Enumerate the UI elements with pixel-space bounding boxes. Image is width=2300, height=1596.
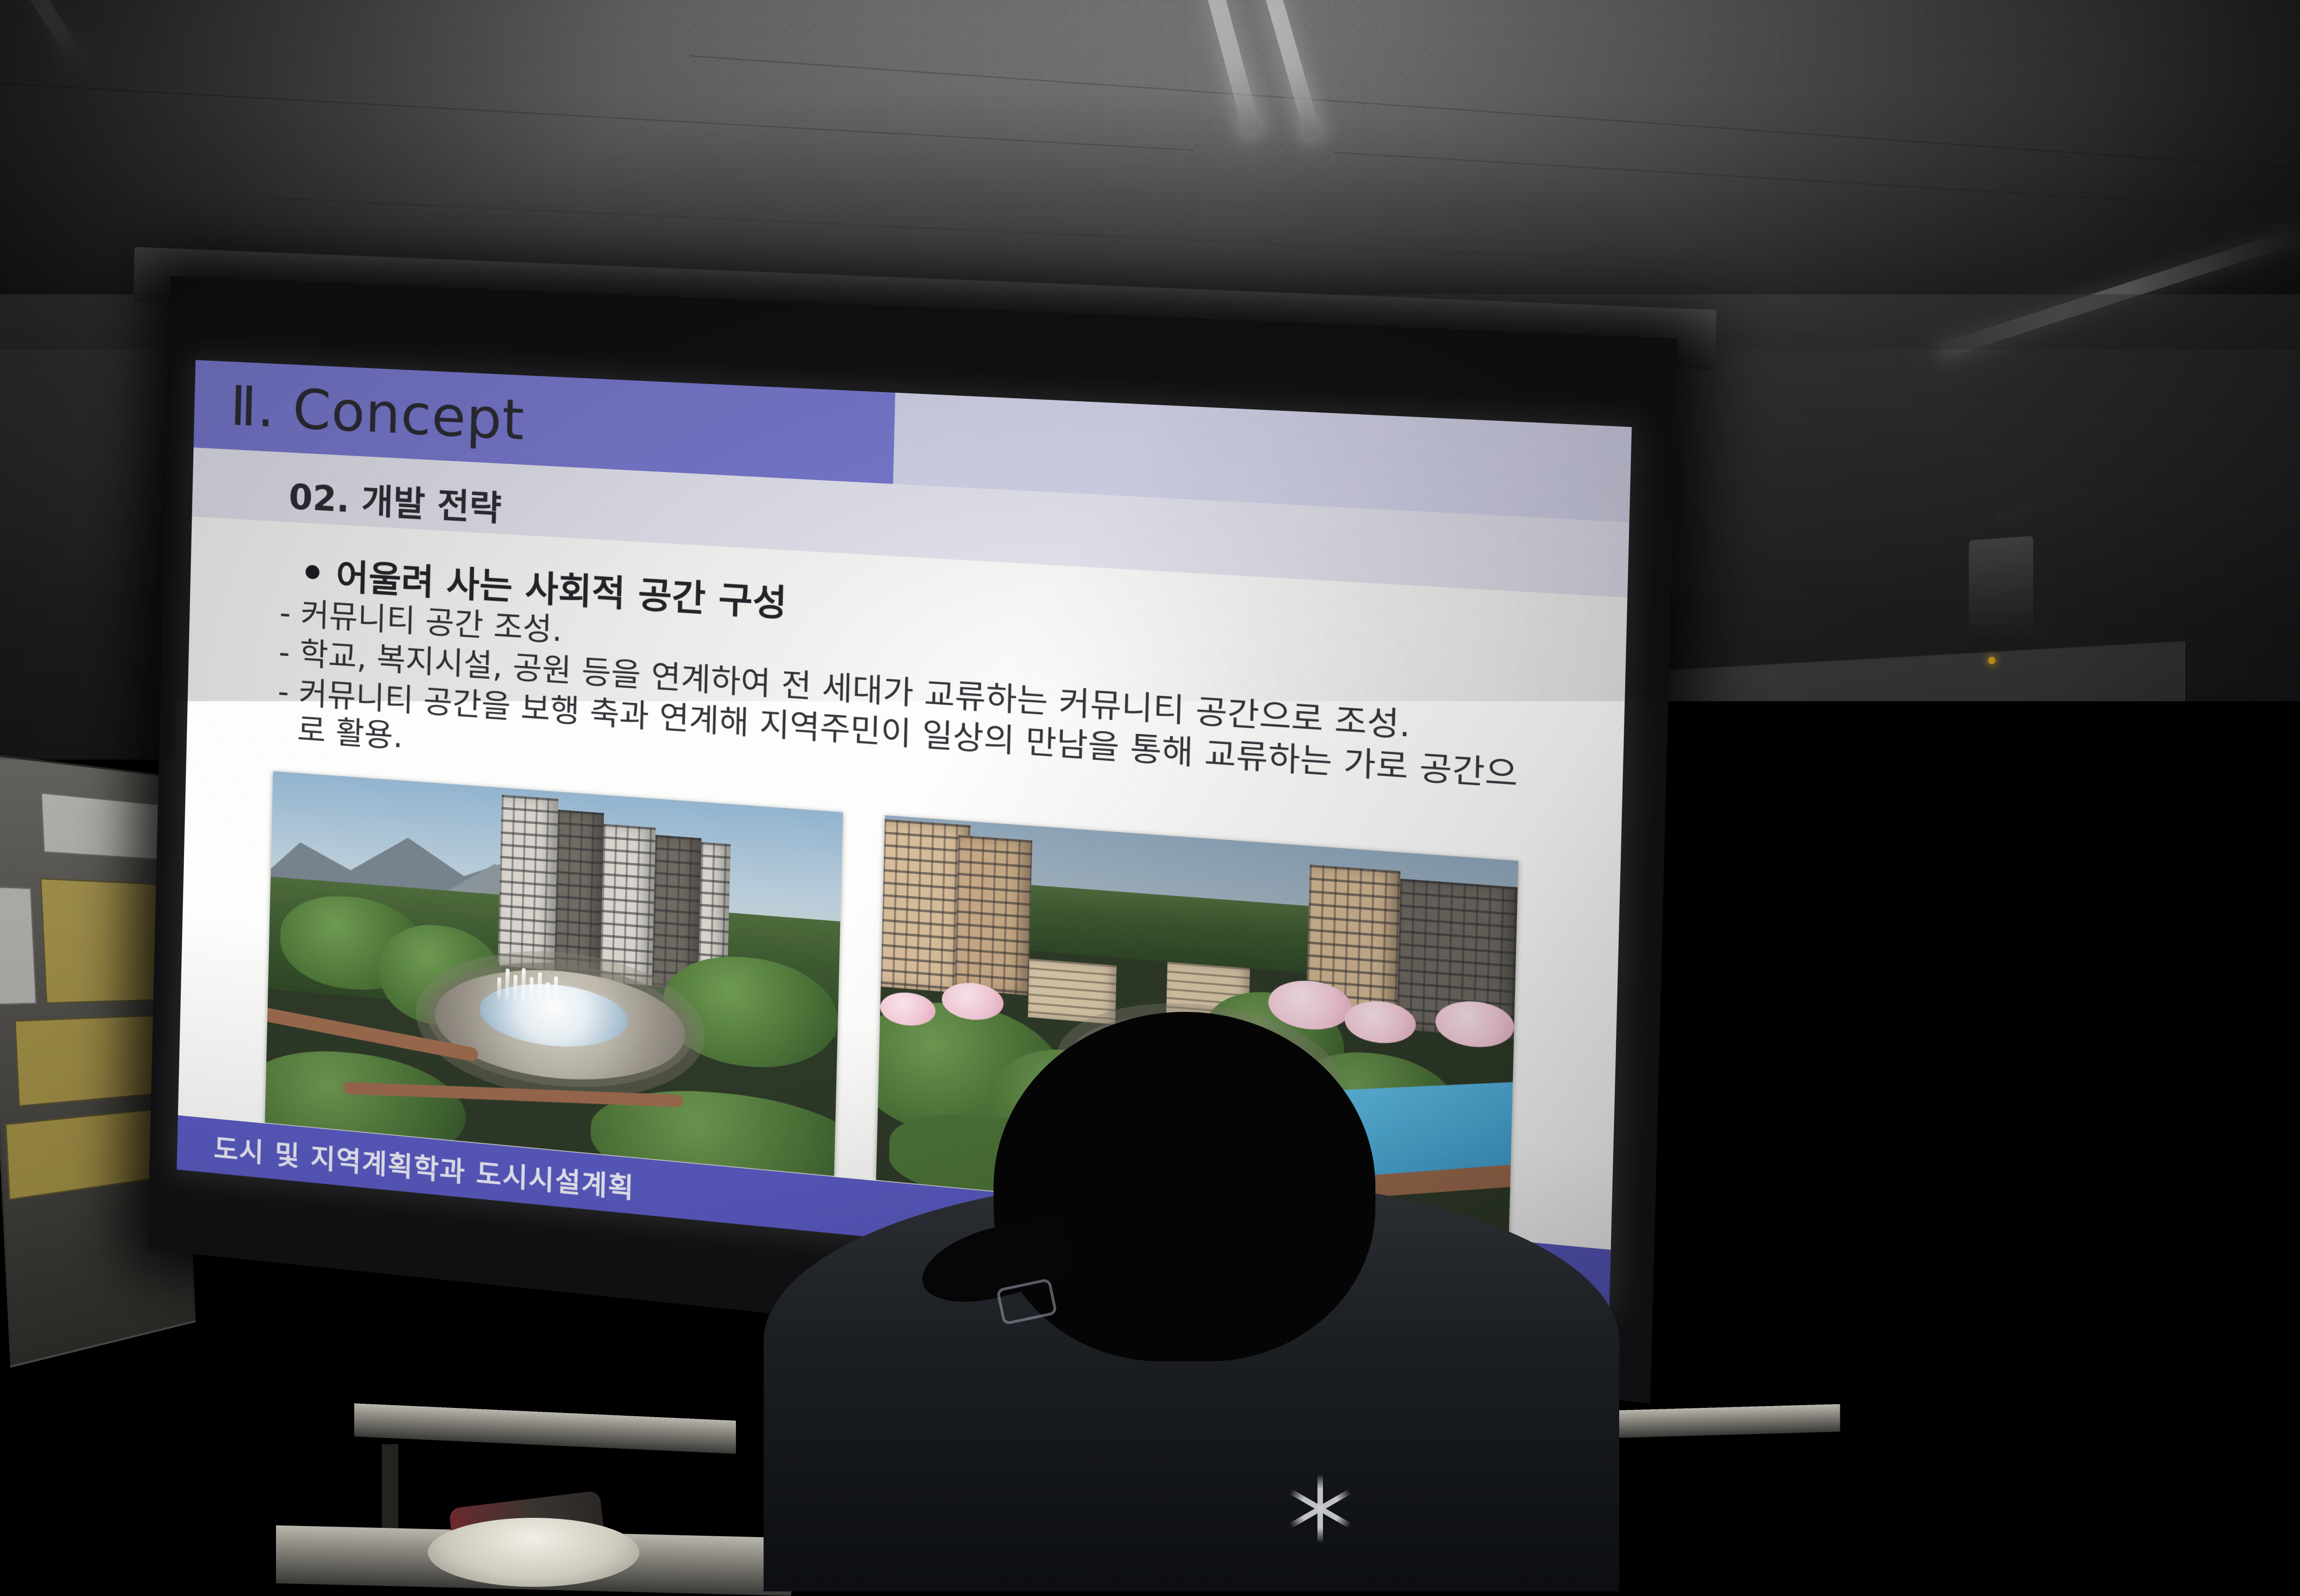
- audience-foreground: [764, 1012, 1619, 1591]
- photo2-tower-left2: [954, 835, 1032, 995]
- slide-title: Ⅱ. Concept: [194, 372, 525, 453]
- photo1-tower-c: [600, 824, 655, 986]
- slide-subtitle: 02. 개발 전략: [288, 469, 502, 531]
- presenter-glasses: [1978, 905, 2054, 919]
- photo-ulsan-sincheon: [265, 771, 843, 1176]
- photo1-tower-b: [554, 809, 604, 978]
- photo1-tower-a: [498, 795, 558, 970]
- tray: [428, 1518, 639, 1587]
- audience-fur-hood: [1716, 1141, 2300, 1590]
- lecture-room: Ⅱ. Concept 02. 개발 전략 어울려 사는 사회적 공간 구성 - …: [0, 0, 2300, 1590]
- parka-snap-button: [1836, 1463, 1857, 1484]
- bullet-dot-icon: [305, 565, 320, 580]
- desk-front-left: [354, 1403, 736, 1454]
- audience-fur-hood-head: [1914, 1113, 2171, 1269]
- snowflake-logo-icon: [1286, 1474, 1355, 1543]
- photo1-fountain-jets: [497, 966, 558, 1004]
- speaker-power-led: [1988, 657, 1995, 664]
- wall-speaker: [1969, 536, 2033, 646]
